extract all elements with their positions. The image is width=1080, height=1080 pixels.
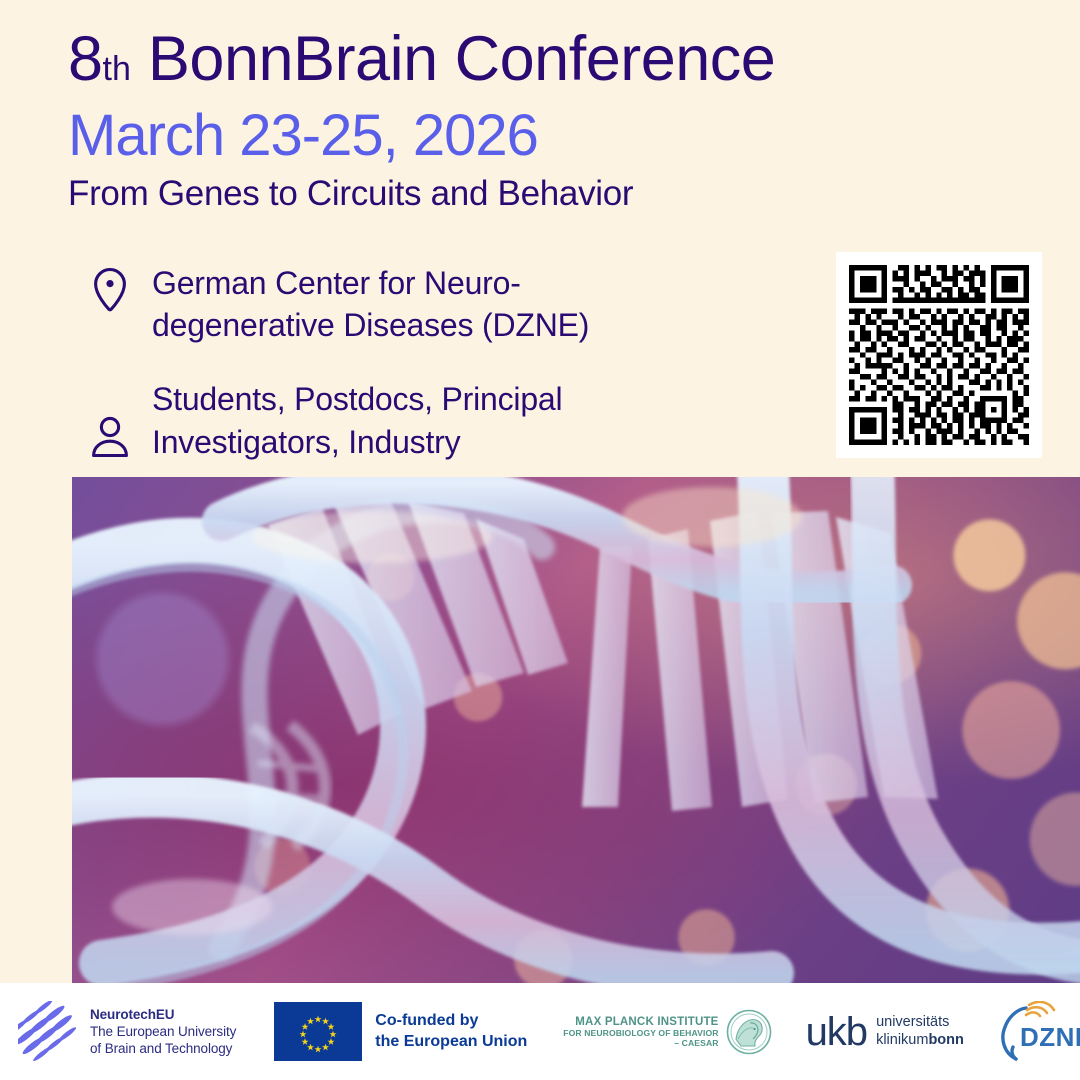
info-item-audience: Students, Postdocs, Principal Investigat… — [88, 378, 788, 462]
max-planck-line-2: FOR NEUROBIOLOGY OF BEHAVIOR — [563, 1028, 718, 1038]
location-text: German Center for Neuro- degenerative Di… — [152, 262, 589, 346]
conference-dates: March 23-25, 2026 — [68, 105, 948, 168]
footer-logos: NeurotechEU The European University of B… — [0, 983, 1080, 1080]
audience-line-1: Students, Postdocs, Principal — [152, 381, 562, 417]
eu-flag-icon — [274, 1002, 362, 1061]
dna-strands — [72, 477, 1080, 983]
ukb-line-2-bold: bonn — [928, 1032, 963, 1048]
ukb-line-2: klinikum — [876, 1032, 928, 1048]
audience-text: Students, Postdocs, Principal Investigat… — [152, 378, 562, 462]
max-planck-text: MAX PLANCK INSTITUTE FOR NEUROBIOLOGY OF… — [563, 1016, 718, 1048]
edition-suffix: th — [103, 50, 131, 88]
ukb-wordmark: ukb — [806, 1015, 868, 1049]
eu-line-2: the European Union — [375, 1033, 527, 1050]
logo-dzne: DZNE — [996, 1001, 1080, 1063]
dna-helix-image — [72, 477, 1080, 983]
location-line-1: German Center for Neuro- — [152, 265, 521, 301]
conference-name: BonnBrain Conference — [131, 24, 775, 94]
max-planck-minerva-seal-icon — [726, 1009, 772, 1055]
ukb-line-1: universitäts — [876, 1014, 949, 1030]
conference-poster: 8th BonnBrain Conference March 23-25, 20… — [0, 0, 1080, 1080]
edition-number: 8 — [68, 24, 103, 94]
neurotecheu-line-3: of Brain and Technology — [90, 1041, 232, 1056]
audience-line-2: Investigators, Industry — [152, 424, 460, 460]
qr-code-icon — [849, 265, 1029, 445]
logo-european-union: Co-funded by the European Union — [274, 1002, 527, 1061]
qr-code[interactable] — [836, 252, 1042, 458]
max-planck-line-1: MAX PLANCK INSTITUTE — [563, 1016, 718, 1028]
neurotecheu-name: NeurotechEU — [90, 1007, 174, 1022]
eu-text: Co-funded by the European Union — [375, 1011, 527, 1053]
info-list: German Center for Neuro- degenerative Di… — [88, 262, 788, 463]
max-planck-line-3: – CAESAR — [563, 1038, 718, 1048]
dzne-wordmark: DZNE — [1020, 1022, 1080, 1052]
neurotecheu-text: NeurotechEU The European University of B… — [90, 1006, 236, 1058]
conference-tagline: From Genes to Circuits and Behavior — [68, 174, 948, 214]
dzne-head-icon: DZNE — [996, 1001, 1080, 1063]
location-line-2: degenerative Diseases (DZNE) — [152, 307, 589, 343]
ukb-text: universitäts klinikumbonn — [876, 1014, 964, 1049]
location-pin-icon — [88, 262, 132, 314]
logo-ukb: ukb universitäts klinikumbonn — [806, 1014, 964, 1049]
info-item-location: German Center for Neuro- degenerative Di… — [88, 262, 788, 346]
header-block: 8th BonnBrain Conference March 23-25, 20… — [68, 28, 948, 214]
neurotecheu-line-2: The European University — [90, 1024, 236, 1039]
eu-line-1: Co-funded by — [375, 1012, 478, 1029]
neurotecheu-mark-icon — [18, 1001, 80, 1063]
logo-neurotech-eu: NeurotechEU The European University of B… — [18, 1001, 236, 1063]
person-icon — [88, 378, 132, 458]
logo-max-planck-institute: MAX PLANCK INSTITUTE FOR NEUROBIOLOGY OF… — [563, 1009, 771, 1055]
page-title: 8th BonnBrain Conference — [68, 28, 948, 91]
